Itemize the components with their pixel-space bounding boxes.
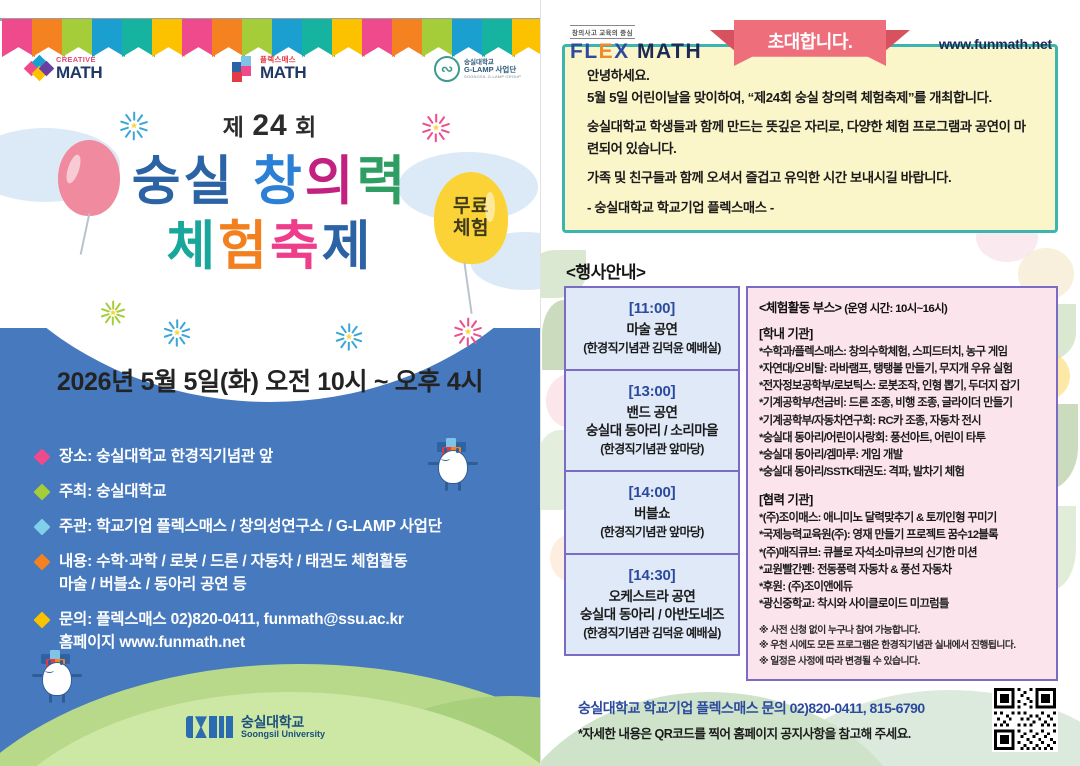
- event-info-text: 내용: 수학·과학 / 로봇 / 드론 / 자동차 / 태권도 체험활동 마술 …: [59, 551, 408, 597]
- ssu-name-english: Soongsil University: [241, 730, 325, 740]
- event-info-text: 주관: 학교기업 플렉스매스 / 창의성연구소 / G-LAMP 사업단: [59, 516, 442, 539]
- flex-math-wordmark-part: FL: [570, 40, 599, 63]
- right-panel-footer: 숭실대학교 학교기업 플렉스매스 문의 02)820-0411, 815-679…: [540, 670, 1080, 766]
- event-ordinal: 제 24 회: [0, 108, 540, 143]
- flex-math-wordmark-part: MATH: [630, 40, 702, 63]
- event-info-row: 주최: 숭실대학교: [36, 481, 442, 504]
- sponsor-logo-row: CREATIVE MATH 플렉스매스 MATH ∾: [0, 52, 540, 96]
- title-char: 의: [305, 150, 357, 215]
- booth-list-item: *전자정보공학부/로보틱스: 로봇조작, 인형 뽑기, 두더지 잡기: [759, 378, 1047, 395]
- schedule-time: [13:00]: [572, 383, 732, 400]
- title-char: 창: [253, 150, 305, 215]
- event-info-text: 문의: 플렉스매스 02)820-0411, funmath@ssu.ac.kr…: [59, 609, 404, 655]
- panel-divider: [540, 0, 541, 766]
- ribbon-fold-right: [884, 30, 910, 52]
- booth-list-item: *교원빨간펜: 전동풍력 자동차 & 풍선 자동차: [759, 562, 1047, 579]
- event-info-text: 장소: 숭실대학교 한경직기념관 앞: [59, 446, 273, 469]
- booth-list-item: *수학과/플렉스매스: 창의수학체험, 스피드터치, 농구 게임: [759, 344, 1047, 361]
- qr-code[interactable]: [992, 686, 1058, 752]
- logo-flexmath-large: MATH: [260, 64, 306, 81]
- mascot-character: [430, 438, 476, 494]
- footer-qr-note: *자세한 내용은 QR코드를 찍어 홈페이지 공지사항을 참고해 주세요.: [578, 723, 925, 742]
- schedule-program-name: 버블쇼: [572, 505, 732, 524]
- schedule-time: [11:00]: [572, 300, 732, 317]
- event-info-row: 주관: 학교기업 플렉스매스 / 창의성연구소 / G-LAMP 사업단: [36, 516, 442, 539]
- booth-list-item: *(주)조이매스: 애니미노 달력맞추기 & 토끼인형 꾸미기: [759, 510, 1047, 527]
- schedule-row: [14:30]오케스트라 공연 숭실대 동아리 / 아반도네즈(한경직기념관 김…: [566, 555, 738, 654]
- diamond-bullet-icon: [34, 553, 51, 570]
- booth-operating-hours: (운영 시간: 10시~16시): [844, 303, 947, 315]
- poster: CREATIVE MATH 플렉스매스 MATH ∾: [0, 0, 1080, 766]
- invitation-message-paragraph: 숭실대학교 학생들과 함께 만드는 뜻깊은 자리로, 다양한 체험 프로그램과 …: [587, 116, 1035, 159]
- title-char: 숭: [132, 150, 184, 215]
- booth-list-item: *숭실대 동아리/어린이사랑회: 풍선아트, 어린이 타투: [759, 430, 1047, 447]
- website-url: www.funmath.net: [939, 36, 1052, 52]
- invitation-ribbon-label: 초대합니다.: [768, 28, 853, 54]
- performance-schedule-table: [11:00]마술 공연(한경직기념관 김덕윤 예배실)[13:00]밴드 공연…: [564, 286, 740, 656]
- sparkle-icon: ★: [334, 322, 364, 352]
- schedule-time: [14:30]: [572, 567, 732, 584]
- invitation-message-box: 안녕하세요. 5월 5일 어린이날을 맞이하여, “제24회 숭실 창의력 체험…: [562, 44, 1058, 233]
- schedule-venue: (한경직기념관 앞마당): [572, 441, 732, 457]
- left-poster-panel: CREATIVE MATH 플렉스매스 MATH ∾: [0, 0, 540, 766]
- schedule-row: [13:00]밴드 공연 숭실대 동아리 / 소리마을(한경직기념관 앞마당): [566, 371, 738, 472]
- booth-notes-list: ※ 사전 신청 없이 누구나 참여 가능합니다.※ 우천 시에도 모든 프로그램…: [759, 623, 1047, 669]
- schedule-program-name: 밴드 공연 숭실대 동아리 / 소리마을: [572, 404, 732, 441]
- poster-title-line2: 체험축제: [0, 215, 540, 280]
- invitation-message-paragraph: 가족 및 친구들과 함께 오셔서 즐겁고 유익한 시간 보내시길 바랍니다.: [587, 167, 1035, 189]
- booth-group2-title: [협력 기관]: [759, 490, 1047, 508]
- booth-note-item: ※ 사전 신청 없이 누구나 참여 가능합니다.: [759, 623, 1047, 638]
- event-date-line: 2026년 5월 5일(화) 오전 10시 ~ 오후 4시: [0, 362, 540, 398]
- creative-math-icon: [26, 56, 52, 80]
- logo-flex-math: 창의사고 교육의 중심 FLEX MATH: [570, 22, 702, 62]
- schedule-program-name: 오케스트라 공연 숭실대 동아리 / 아반도네즈: [572, 588, 732, 625]
- poster-title: 숭실 창의력 체험축제: [0, 150, 540, 279]
- schedule-section-title: <행사안내>: [566, 258, 645, 283]
- schedule-row: [11:00]마술 공연(한경직기념관 김덕윤 예배실): [566, 288, 738, 371]
- schedule-time: [14:00]: [572, 484, 732, 501]
- ordinal-number: 24: [252, 109, 287, 142]
- poster-title-line1: 숭실 창의력: [0, 150, 540, 215]
- event-info-row: 장소: 숭실대학교 한경직기념관 앞: [36, 446, 442, 469]
- soongsil-university-logo: 숭실대학교 Soongsil University: [186, 715, 325, 740]
- logo-creative-math-large: MATH: [56, 64, 102, 81]
- booth-list-item: *기계공학부/자동차연구회: RC카 조종, 자동차 전시: [759, 413, 1047, 430]
- booth-group2-list: *(주)조이매스: 애니미노 달력맞추기 & 토끼인형 꾸미기*국제능력교육원(…: [759, 510, 1047, 613]
- booth-list-item: *광신중학교: 착시와 사이클로이드 미끄럼틀: [759, 596, 1047, 613]
- diamond-bullet-icon: [34, 518, 51, 535]
- booth-heading-label: <체험활동 부스>: [759, 301, 841, 315]
- booth-note-item: ※ 일정은 사정에 따라 변경될 수 있습니다.: [759, 654, 1047, 669]
- glamp-swirl-icon: ∾: [434, 56, 460, 82]
- title-char: [235, 150, 253, 215]
- schedule-venue: (한경직기념관 김덕윤 예배실): [572, 625, 732, 641]
- invitation-ribbon: 초대합니다.: [734, 20, 886, 66]
- booth-list-item: *(주)매직큐브: 큐블로 자석소마큐브의 신기한 미션: [759, 545, 1047, 562]
- logo-creative-math: CREATIVE MATH: [26, 56, 102, 81]
- footer-contact-line: 숭실대학교 학교기업 플렉스매스 문의 02)820-0411, 815-679…: [578, 698, 925, 718]
- booth-list-item: *후원: (주)조이앤에듀: [759, 579, 1047, 596]
- booth-group1-list: *수학과/플렉스매스: 창의수학체험, 스피드터치, 농구 게임*자연대/오비탈…: [759, 344, 1047, 481]
- schedule-program-name: 마술 공연: [572, 321, 732, 340]
- ssu-wordmark-icon: [186, 715, 233, 739]
- booth-list-item: *숭실대 동아리/SSTK태권도: 격파, 발차기 체험: [759, 464, 1047, 481]
- title-char: 축: [270, 215, 322, 280]
- sparkle-icon: ★: [100, 300, 126, 326]
- flexmath-icon: [232, 56, 256, 80]
- booth-heading: <체험활동 부스> (운영 시간: 10시~16시): [759, 297, 1047, 316]
- event-info-row: 내용: 수학·과학 / 로봇 / 드론 / 자동차 / 태권도 체험활동 마술 …: [36, 551, 442, 597]
- booth-list-item: *기계공학부/천금비: 드론 조종, 비행 조종, 글라이더 만들기: [759, 395, 1047, 412]
- schedule-venue: (한경직기념관 앞마당): [572, 524, 732, 540]
- logo-glamp: ∾ 숭실대학교 G-LAMP 사업단 SOONGSIL G-LAMP GROUP: [434, 56, 521, 82]
- event-info-row: 문의: 플렉스매스 02)820-0411, funmath@ssu.ac.kr…: [36, 609, 442, 655]
- logo-flexmath: 플렉스매스 MATH: [232, 56, 306, 81]
- booth-list-item: *국제능력교육원(주): 영재 만들기 프로젝트 꿈수12블록: [759, 527, 1047, 544]
- ssu-name-korean: 숭실대학교: [241, 715, 325, 730]
- booth-list-item: *자연대/오비탈: 라바램프, 탱탱볼 만들기, 무지개 우유 실험: [759, 361, 1047, 378]
- title-char: 력: [357, 150, 409, 215]
- title-char: 실: [183, 150, 235, 215]
- booth-note-item: ※ 우천 시에도 모든 프로그램은 한경직기념관 실내에서 진행됩니다.: [759, 638, 1047, 653]
- diamond-bullet-icon: [34, 449, 51, 466]
- experience-booth-box: <체험활동 부스> (운영 시간: 10시~16시) [학내 기관] *수학과/…: [746, 286, 1058, 681]
- event-info-text: 주최: 숭실대학교: [59, 481, 167, 504]
- title-char: 체: [166, 215, 218, 280]
- flex-math-tagline: 창의사고 교육의 중심: [570, 25, 635, 39]
- invitation-message-paragraph: - 숭실대학교 학교기업 플렉스매스 -: [587, 197, 1035, 219]
- schedule-row: [14:00]버블쇼(한경직기념관 앞마당): [566, 472, 738, 555]
- right-panel-header: 창의사고 교육의 중심 FLEX MATH 초대합니다. www.funmath…: [540, 18, 1080, 72]
- ordinal-suffix: 회: [295, 114, 317, 140]
- ordinal-prefix: 제: [223, 114, 245, 140]
- sparkle-icon: ★: [452, 316, 484, 348]
- booth-group1-title: [학내 기관]: [759, 324, 1047, 342]
- mascot-character: [34, 650, 80, 706]
- flex-math-wordmark-part: E: [599, 40, 615, 63]
- sparkle-icon: ★: [162, 318, 192, 348]
- schedule-venue: (한경직기념관 김덕윤 예배실): [572, 340, 732, 356]
- right-info-panel: 창의사고 교육의 중심 FLEX MATH 초대합니다. www.funmath…: [540, 0, 1080, 766]
- ribbon-fold-left: [710, 30, 736, 52]
- flex-math-wordmark-part: X: [614, 40, 630, 63]
- title-char: 제: [322, 215, 374, 280]
- flex-math-wordmark: FLEX MATH: [570, 41, 702, 62]
- logo-glamp-line3: SOONGSIL G-LAMP GROUP: [464, 75, 521, 80]
- event-info-list: 장소: 숭실대학교 한경직기념관 앞주최: 숭실대학교주관: 학교기업 플렉스매…: [36, 446, 442, 667]
- diamond-bullet-icon: [34, 483, 51, 500]
- title-char: 험: [218, 215, 270, 280]
- qr-code-image: [994, 688, 1056, 750]
- footer-contact-text: 숭실대학교 학교기업 플렉스매스 문의 02)820-0411, 815-679…: [578, 698, 925, 742]
- diamond-bullet-icon: [34, 611, 51, 628]
- booth-list-item: *숭실대 동아리/겜마루: 게임 개발: [759, 447, 1047, 464]
